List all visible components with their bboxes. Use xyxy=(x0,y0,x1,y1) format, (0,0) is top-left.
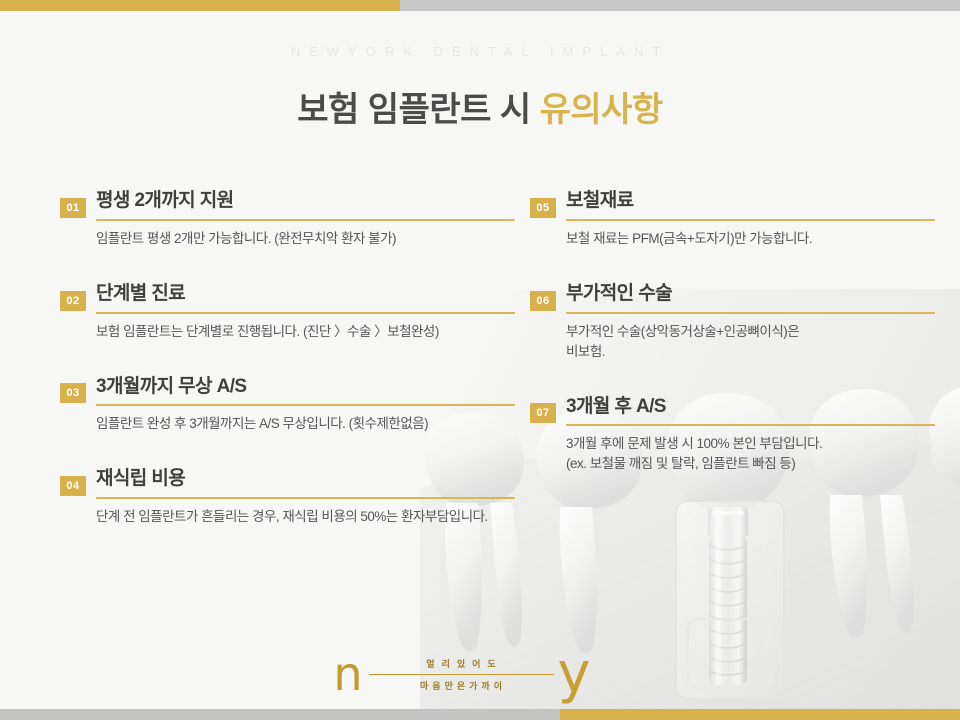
page-title: 보험 임플란트 시 유의사항 xyxy=(0,82,960,131)
logo-tagline-block: 멀리있어도 마음만은가까이 xyxy=(365,657,558,692)
footer-logo: n 멀리있어도 마음만은가까이 y xyxy=(0,650,960,698)
item-header: 05 보철재료 xyxy=(530,190,935,221)
item-title-underlined: 3개월 후 A/S xyxy=(566,396,935,427)
item-description-line: 보험 임플란트는 단계별로 진행됩니다. (진단 〉수술 〉보철완성) xyxy=(96,322,515,342)
top-bar-gray-segment xyxy=(400,0,960,11)
item-description-line: 3개월 후에 문제 발생 시 100% 본인 부담입니다. xyxy=(566,434,935,454)
bottom-bar xyxy=(0,709,960,720)
item-number-badge: 03 xyxy=(60,383,86,403)
list-item: 04 재식립 비용 단계 전 임플란트가 흔들리는 경우, 재식립 비용의 50… xyxy=(60,468,515,527)
item-number-badge: 04 xyxy=(60,476,86,496)
item-title-underlined: 단계별 진료 xyxy=(96,283,515,314)
item-description: 보철 재료는 PFM(금속+도자기)만 가능합니다. xyxy=(566,229,935,249)
item-header: 01 평생 2개까지 지원 xyxy=(60,190,515,221)
item-description-line: 임플란트 평생 2개만 가능합니다. (완전무치악 환자 불가) xyxy=(96,229,515,249)
list-item: 01 평생 2개까지 지원 임플란트 평생 2개만 가능합니다. (완전무치악 … xyxy=(60,190,515,249)
list-item: 06 부가적인 수술 부가적인 수술(상악동거상술+인공뼈이식)은 비보험. xyxy=(530,283,935,362)
item-title-underlined: 평생 2개까지 지원 xyxy=(96,190,515,221)
item-title-underlined: 부가적인 수술 xyxy=(566,283,935,314)
list-item: 02 단계별 진료 보험 임플란트는 단계별로 진행됩니다. (진단 〉수술 〉… xyxy=(60,283,515,342)
logo-divider xyxy=(369,674,554,675)
item-number-badge: 07 xyxy=(530,403,556,423)
item-title: 평생 2개까지 지원 xyxy=(96,190,234,211)
left-column: 01 평생 2개까지 지원 임플란트 평생 2개만 가능합니다. (완전무치악 … xyxy=(60,190,515,561)
list-item: 05 보철재료 보철 재료는 PFM(금속+도자기)만 가능합니다. xyxy=(530,190,935,249)
item-title-underlined: 재식립 비용 xyxy=(96,468,515,499)
item-number-badge: 02 xyxy=(60,291,86,311)
item-number-badge: 01 xyxy=(60,198,86,218)
logo-inner: n 멀리있어도 마음만은가까이 y xyxy=(333,650,590,698)
top-bar-gold-segment xyxy=(0,0,400,11)
item-title: 부가적인 수술 xyxy=(566,283,672,304)
item-description-line: 임플란트 완성 후 3개월까지는 A/S 무상입니다. (횟수제한없음) xyxy=(96,414,515,434)
item-title: 재식립 비용 xyxy=(96,468,185,489)
bottom-bar-gray-segment xyxy=(0,709,560,720)
item-description-line: (ex. 보철물 깨짐 및 탈락, 임플란트 빠짐 등) xyxy=(566,454,935,474)
item-description: 단계 전 임플란트가 흔들리는 경우, 재식립 비용의 50%는 환자부담입니다… xyxy=(96,507,515,527)
logo-tagline-bottom: 마음만은가까이 xyxy=(416,675,506,692)
item-number-badge: 05 xyxy=(530,198,556,218)
item-header: 03 3개월까지 무상 A/S xyxy=(60,376,515,407)
item-description-line: 비보험. xyxy=(566,342,935,362)
item-description: 3개월 후에 문제 발생 시 100% 본인 부담입니다. (ex. 보철물 깨… xyxy=(566,434,935,474)
item-title: 3개월까지 무상 A/S xyxy=(96,376,246,397)
item-description: 보험 임플란트는 단계별로 진행됩니다. (진단 〉수술 〉보철완성) xyxy=(96,322,515,342)
bottom-bar-gold-segment xyxy=(560,709,960,720)
logo-letter-y: y xyxy=(558,650,591,698)
item-header: 04 재식립 비용 xyxy=(60,468,515,499)
item-header: 02 단계별 진료 xyxy=(60,283,515,314)
item-description: 부가적인 수술(상악동거상술+인공뼈이식)은 비보험. xyxy=(566,322,935,362)
item-description-line: 단계 전 임플란트가 흔들리는 경우, 재식립 비용의 50%는 환자부담입니다… xyxy=(96,507,515,527)
item-number-badge: 06 xyxy=(530,291,556,311)
eyebrow-text: NEWYORK DENTAL IMPLANT xyxy=(0,44,960,59)
top-bar xyxy=(0,0,960,11)
item-title: 보철재료 xyxy=(566,190,634,211)
item-title-underlined: 보철재료 xyxy=(566,190,935,221)
item-description: 임플란트 평생 2개만 가능합니다. (완전무치악 환자 불가) xyxy=(96,229,515,249)
item-header: 06 부가적인 수술 xyxy=(530,283,935,314)
list-item: 03 3개월까지 무상 A/S 임플란트 완성 후 3개월까지는 A/S 무상입… xyxy=(60,376,515,435)
item-description-line: 부가적인 수술(상악동거상술+인공뼈이식)은 xyxy=(566,322,935,342)
item-header: 07 3개월 후 A/S xyxy=(530,396,935,427)
item-description: 임플란트 완성 후 3개월까지는 A/S 무상입니다. (횟수제한없음) xyxy=(96,414,515,434)
list-item: 07 3개월 후 A/S 3개월 후에 문제 발생 시 100% 본인 부담입니… xyxy=(530,396,935,475)
item-title-underlined: 3개월까지 무상 A/S xyxy=(96,376,515,407)
item-description-line: 보철 재료는 PFM(금속+도자기)만 가능합니다. xyxy=(566,229,935,249)
item-title: 단계별 진료 xyxy=(96,283,185,304)
item-title: 3개월 후 A/S xyxy=(566,396,666,417)
right-column: 05 보철재료 보철 재료는 PFM(금속+도자기)만 가능합니다. 06 부가… xyxy=(530,190,935,508)
infographic-page: NEWYORK DENTAL IMPLANT 보험 임플란트 시 유의사항 01… xyxy=(0,0,960,720)
page-title-plain: 보험 임플란트 시 xyxy=(297,91,539,129)
page-title-accent: 유의사항 xyxy=(540,91,663,129)
logo-tagline-top: 멀리있어도 xyxy=(419,657,502,674)
logo-letter-n: n xyxy=(333,651,362,697)
